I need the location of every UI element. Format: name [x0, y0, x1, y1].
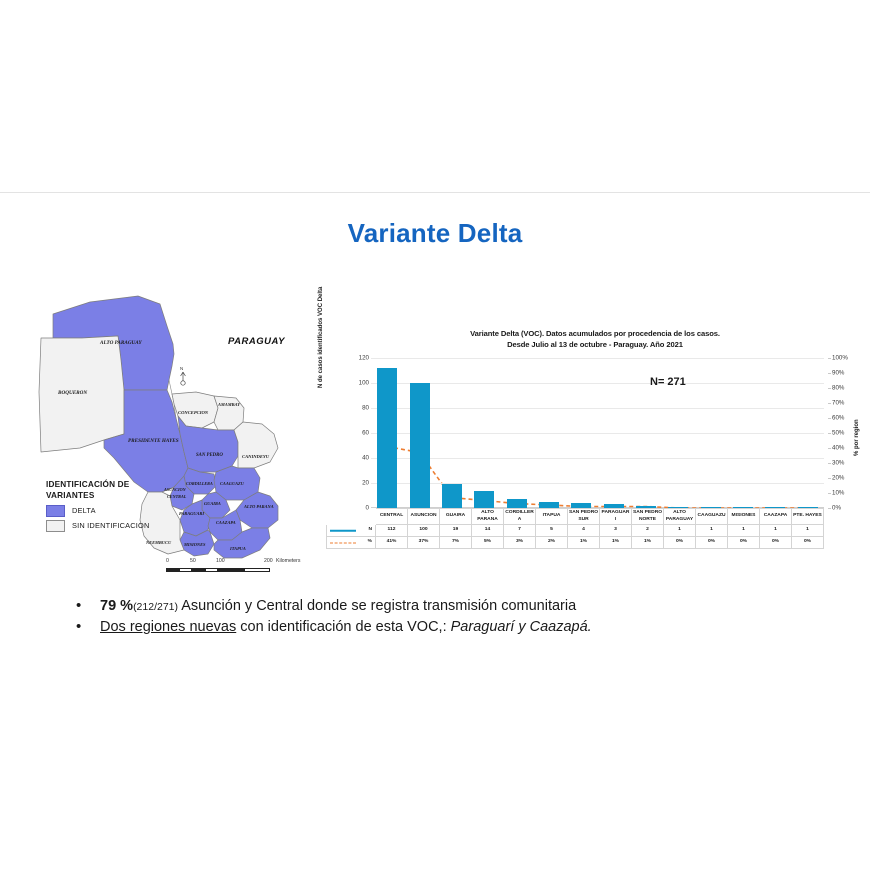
table-cell: 5% — [472, 537, 504, 549]
table-cell: 1 — [696, 525, 728, 537]
chart-gridline — [371, 383, 824, 384]
map-label-guaira: GUAIRA — [204, 501, 221, 506]
chart-gridline — [371, 483, 824, 484]
chart-ytick-right: 80% — [832, 385, 844, 392]
chart-tickmark — [828, 403, 831, 404]
table-header-cell: CAAGUAZU — [696, 509, 728, 525]
svg-text:N: N — [180, 366, 183, 371]
table-cell: 19 — [440, 525, 472, 537]
chart-ytick-right: 0% — [832, 505, 841, 512]
scale-tick-0: 0 — [166, 558, 169, 564]
bullet-2-italic: Paraguarí y Caazapá. — [451, 619, 592, 635]
table-header-cell: CENTRAL — [376, 509, 408, 525]
table-header-cell: ASUNCION — [408, 509, 440, 525]
chart-tickmark — [828, 433, 831, 434]
map-label-alto-paraguay: ALTO PARAGUAY — [99, 340, 142, 346]
table-cell: 3 — [600, 525, 632, 537]
bullet-marker-icon: • — [76, 619, 100, 634]
map-legend-item-sin-identificacion: SIN IDENTIFICACION — [46, 520, 176, 532]
legend-label-sin-identificacion: SIN IDENTIFICACION — [72, 521, 150, 530]
table-cell: 1 — [664, 525, 696, 537]
map-label-concepcion: CONCEPCION — [178, 410, 209, 415]
chart-tickmark — [828, 493, 831, 494]
chart-yaxis-left: 020406080100120 — [345, 358, 369, 508]
chart-yaxis-right: 0%10%20%30%40%50%60%70%80%90%100% — [828, 358, 858, 508]
table-header-cell: PTE. HAYES — [792, 509, 824, 525]
table-header-cell: PARAGUARI — [600, 509, 632, 525]
table-cell: 41% — [376, 537, 408, 549]
table-cell: 3% — [504, 537, 536, 549]
chart-plot-area — [371, 358, 824, 508]
scale-seg-1 — [166, 568, 179, 572]
table-cell: 1 — [728, 525, 760, 537]
chart-tickmark — [828, 508, 831, 509]
table-header-cell: CORDILLERA — [504, 509, 536, 525]
table-header-cell: ITAPUA — [536, 509, 568, 525]
header-divider — [0, 192, 870, 193]
map-label-misiones: MISIONES — [183, 542, 206, 547]
chart-ytick-right: 100% — [832, 355, 848, 362]
chart-tickmark — [828, 418, 831, 419]
list-item: • 79 %(212/271) Asunción y Central donde… — [76, 598, 776, 614]
chart-title: Variante Delta (VOC). Datos acumulados p… — [360, 328, 830, 351]
table-cell: 1% — [632, 537, 664, 549]
map-country-label: PARAGUAY — [228, 336, 286, 347]
table-cell: 2 — [632, 525, 664, 537]
bullet-1-text: 79 %(212/271) Asunción y Central donde s… — [100, 598, 576, 614]
chart-title-line1: Variante Delta (VOC). Datos acumulados p… — [360, 328, 830, 339]
table-header-cell: SAN PEDRONORTE — [632, 509, 664, 525]
map-label-caaguazu: CAAGUAZU — [220, 481, 245, 486]
map-label-neembucu: ÑEEMBUCU — [145, 540, 172, 545]
legend-dashed-line-icon — [330, 542, 356, 543]
chart-ytick-left: 120 — [359, 355, 369, 362]
chart-gridline — [371, 358, 824, 359]
chart-tickmark — [828, 448, 831, 449]
map-label-alto-parana: ALTO PARANA — [243, 504, 274, 509]
chart-ytick-right: 10% — [832, 490, 844, 497]
table-header-cell: GUAIRA — [440, 509, 472, 525]
chart-ytick-right: 90% — [832, 370, 844, 377]
map-scale-segments — [166, 568, 270, 572]
chart-ylabel-left: N de casos identificados VOC Delta — [318, 287, 324, 388]
chart-ytick-right: 50% — [832, 430, 844, 437]
chart-tickmark — [828, 478, 831, 479]
chart-tickmark — [828, 358, 831, 359]
table-legend-cell: N — [327, 525, 376, 537]
chart-tickmark — [828, 388, 831, 389]
table-row: CENTRALASUNCIONGUAIRAALTOPARANACORDILLER… — [327, 509, 824, 525]
map-legend-item-delta: DELTA — [46, 505, 176, 517]
bullet-list: • 79 %(212/271) Asunción y Central donde… — [76, 598, 776, 640]
table-cell: 112 — [376, 525, 408, 537]
chart-ytick-left: 40 — [362, 455, 369, 462]
chart-ytick-left: 80 — [362, 405, 369, 412]
map-label-amambay: AMAMBAY — [217, 402, 241, 407]
map-label-boqueron: BOQUERON — [57, 390, 87, 396]
map-region-canindeyu — [234, 422, 278, 468]
chart-data-table-body: CENTRALASUNCIONGUAIRAALTOPARANACORDILLER… — [327, 509, 824, 549]
table-cell: 0% — [728, 537, 760, 549]
map-label-cordillera: CORDILLERA — [186, 481, 213, 486]
chart-ytick-right: 40% — [832, 445, 844, 452]
map-label-presidente-hayes: PRESIDENTE HAYES — [128, 438, 179, 444]
bullet-1-small: (212/271) — [133, 601, 178, 613]
table-cell: 4 — [568, 525, 600, 537]
table-cell: 14 — [472, 525, 504, 537]
north-arrow-icon: N — [180, 366, 185, 385]
chart-bar — [507, 499, 527, 508]
map-legend-title: IDENTIFICACIÓN DE VARIANTES — [46, 480, 176, 502]
scale-tick-100: 100 — [216, 558, 225, 564]
scale-unit: Kilometers — [276, 558, 301, 564]
scale-seg-4 — [205, 568, 218, 572]
bullet-2-text: Dos regiones nuevas con identificación d… — [100, 619, 592, 635]
scale-seg-2 — [179, 568, 192, 572]
legend-swatch-sin-identificacion-icon — [46, 520, 65, 532]
chart-title-line2: Desde Julio al 13 de octubre - Paraguay.… — [360, 339, 830, 350]
chart-gridline — [371, 458, 824, 459]
chart-ytick-right: 70% — [832, 400, 844, 407]
legend-solid-line-icon — [330, 529, 356, 532]
chart-ytick-left: 100 — [359, 380, 369, 387]
map-legend-title-line2: VARIANTES — [46, 491, 176, 502]
table-row: %41%37%7%5%3%2%1%1%1%0%0%0%0%0% — [327, 537, 824, 549]
table-header-cell: ALTOPARANA — [472, 509, 504, 525]
table-row: N11210019147543211111 — [327, 525, 824, 537]
chart-bar — [442, 484, 462, 508]
map-label-paraguari: PARAGUARI — [179, 511, 204, 516]
table-legend-cell: % — [327, 537, 376, 549]
list-item: • Dos regiones nuevas con identificación… — [76, 619, 776, 635]
map-legend-title-line1: IDENTIFICACIÓN DE — [46, 480, 176, 491]
bullet-2-rest: con identificación de esta VOC,: — [236, 619, 450, 635]
chart-ytick-right: 20% — [832, 475, 844, 482]
chart-ytick-right: 60% — [832, 415, 844, 422]
table-cell: 100 — [408, 525, 440, 537]
chart-tickmark — [828, 463, 831, 464]
table-cell: 1 — [792, 525, 824, 537]
table-cell: 7% — [440, 537, 472, 549]
table-header-cell: ALTOPARAGUAY — [664, 509, 696, 525]
bullet-marker-icon: • — [76, 598, 100, 613]
map-label-canindeyu: CANINDEYU — [242, 454, 270, 459]
table-header-cell: MISIONES — [728, 509, 760, 525]
legend-swatch-delta-icon — [46, 505, 65, 517]
chart-bar — [410, 383, 430, 508]
map-scale-bar: 0 50 100 200 Kilometers — [166, 558, 316, 572]
chart-gridline — [371, 408, 824, 409]
chart-gridline — [371, 433, 824, 434]
table-cell: 2% — [536, 537, 568, 549]
chart-tickmark — [828, 373, 831, 374]
scale-tick-200: 200 — [264, 558, 273, 564]
map-legend: IDENTIFICACIÓN DE VARIANTES DELTA SIN ID… — [46, 480, 176, 532]
page-title: Variante Delta — [0, 218, 870, 249]
table-cell: 0% — [696, 537, 728, 549]
scale-tick-50: 50 — [190, 558, 196, 564]
paraguay-map-panel: ALTO PARAGUAY BOQUERON PRESIDENTE HAYES … — [38, 282, 328, 572]
legend-label-delta: DELTA — [72, 506, 96, 515]
table-header-cell: CAAZAPA — [760, 509, 792, 525]
table-cell: 37% — [408, 537, 440, 549]
table-cell: 0% — [664, 537, 696, 549]
map-label-itapua: ITAPUA — [229, 546, 246, 551]
table-cell: 0% — [760, 537, 792, 549]
map-scale-numbers: 0 50 100 200 Kilometers — [166, 558, 316, 567]
bullet-1-rest: Asunción y Central donde se registra tra… — [178, 598, 576, 614]
bullet-2-underline: Dos regiones nuevas — [100, 619, 236, 635]
chart-bar — [377, 368, 397, 508]
scale-seg-6 — [244, 568, 270, 572]
table-header-cell: SAN PEDROSUR — [568, 509, 600, 525]
bullet-1-bold: 79 % — [100, 598, 133, 614]
scale-seg-3 — [192, 568, 205, 572]
table-cell: 1% — [568, 537, 600, 549]
table-cell: 1% — [600, 537, 632, 549]
chart-ytick-left: 20 — [362, 480, 369, 487]
chart-ytick-right: 30% — [832, 460, 844, 467]
chart-total-annotation: N= 271 — [650, 376, 686, 388]
table-cell: 1 — [760, 525, 792, 537]
table-cell: 0% — [792, 537, 824, 549]
chart-ytick-left: 60 — [362, 430, 369, 437]
delta-variant-chart: Variante Delta (VOC). Datos acumulados p… — [320, 328, 862, 550]
table-cell: 5 — [536, 525, 568, 537]
chart-bar — [474, 491, 494, 509]
map-label-caazapa: CAAZAPA — [216, 520, 236, 525]
scale-seg-5 — [218, 568, 244, 572]
chart-data-table: CENTRALASUNCIONGUAIRAALTOPARANACORDILLER… — [326, 508, 824, 549]
table-corner-cell — [327, 509, 376, 525]
table-cell: 7 — [504, 525, 536, 537]
map-label-san-pedro: SAN PEDRO — [196, 453, 223, 458]
